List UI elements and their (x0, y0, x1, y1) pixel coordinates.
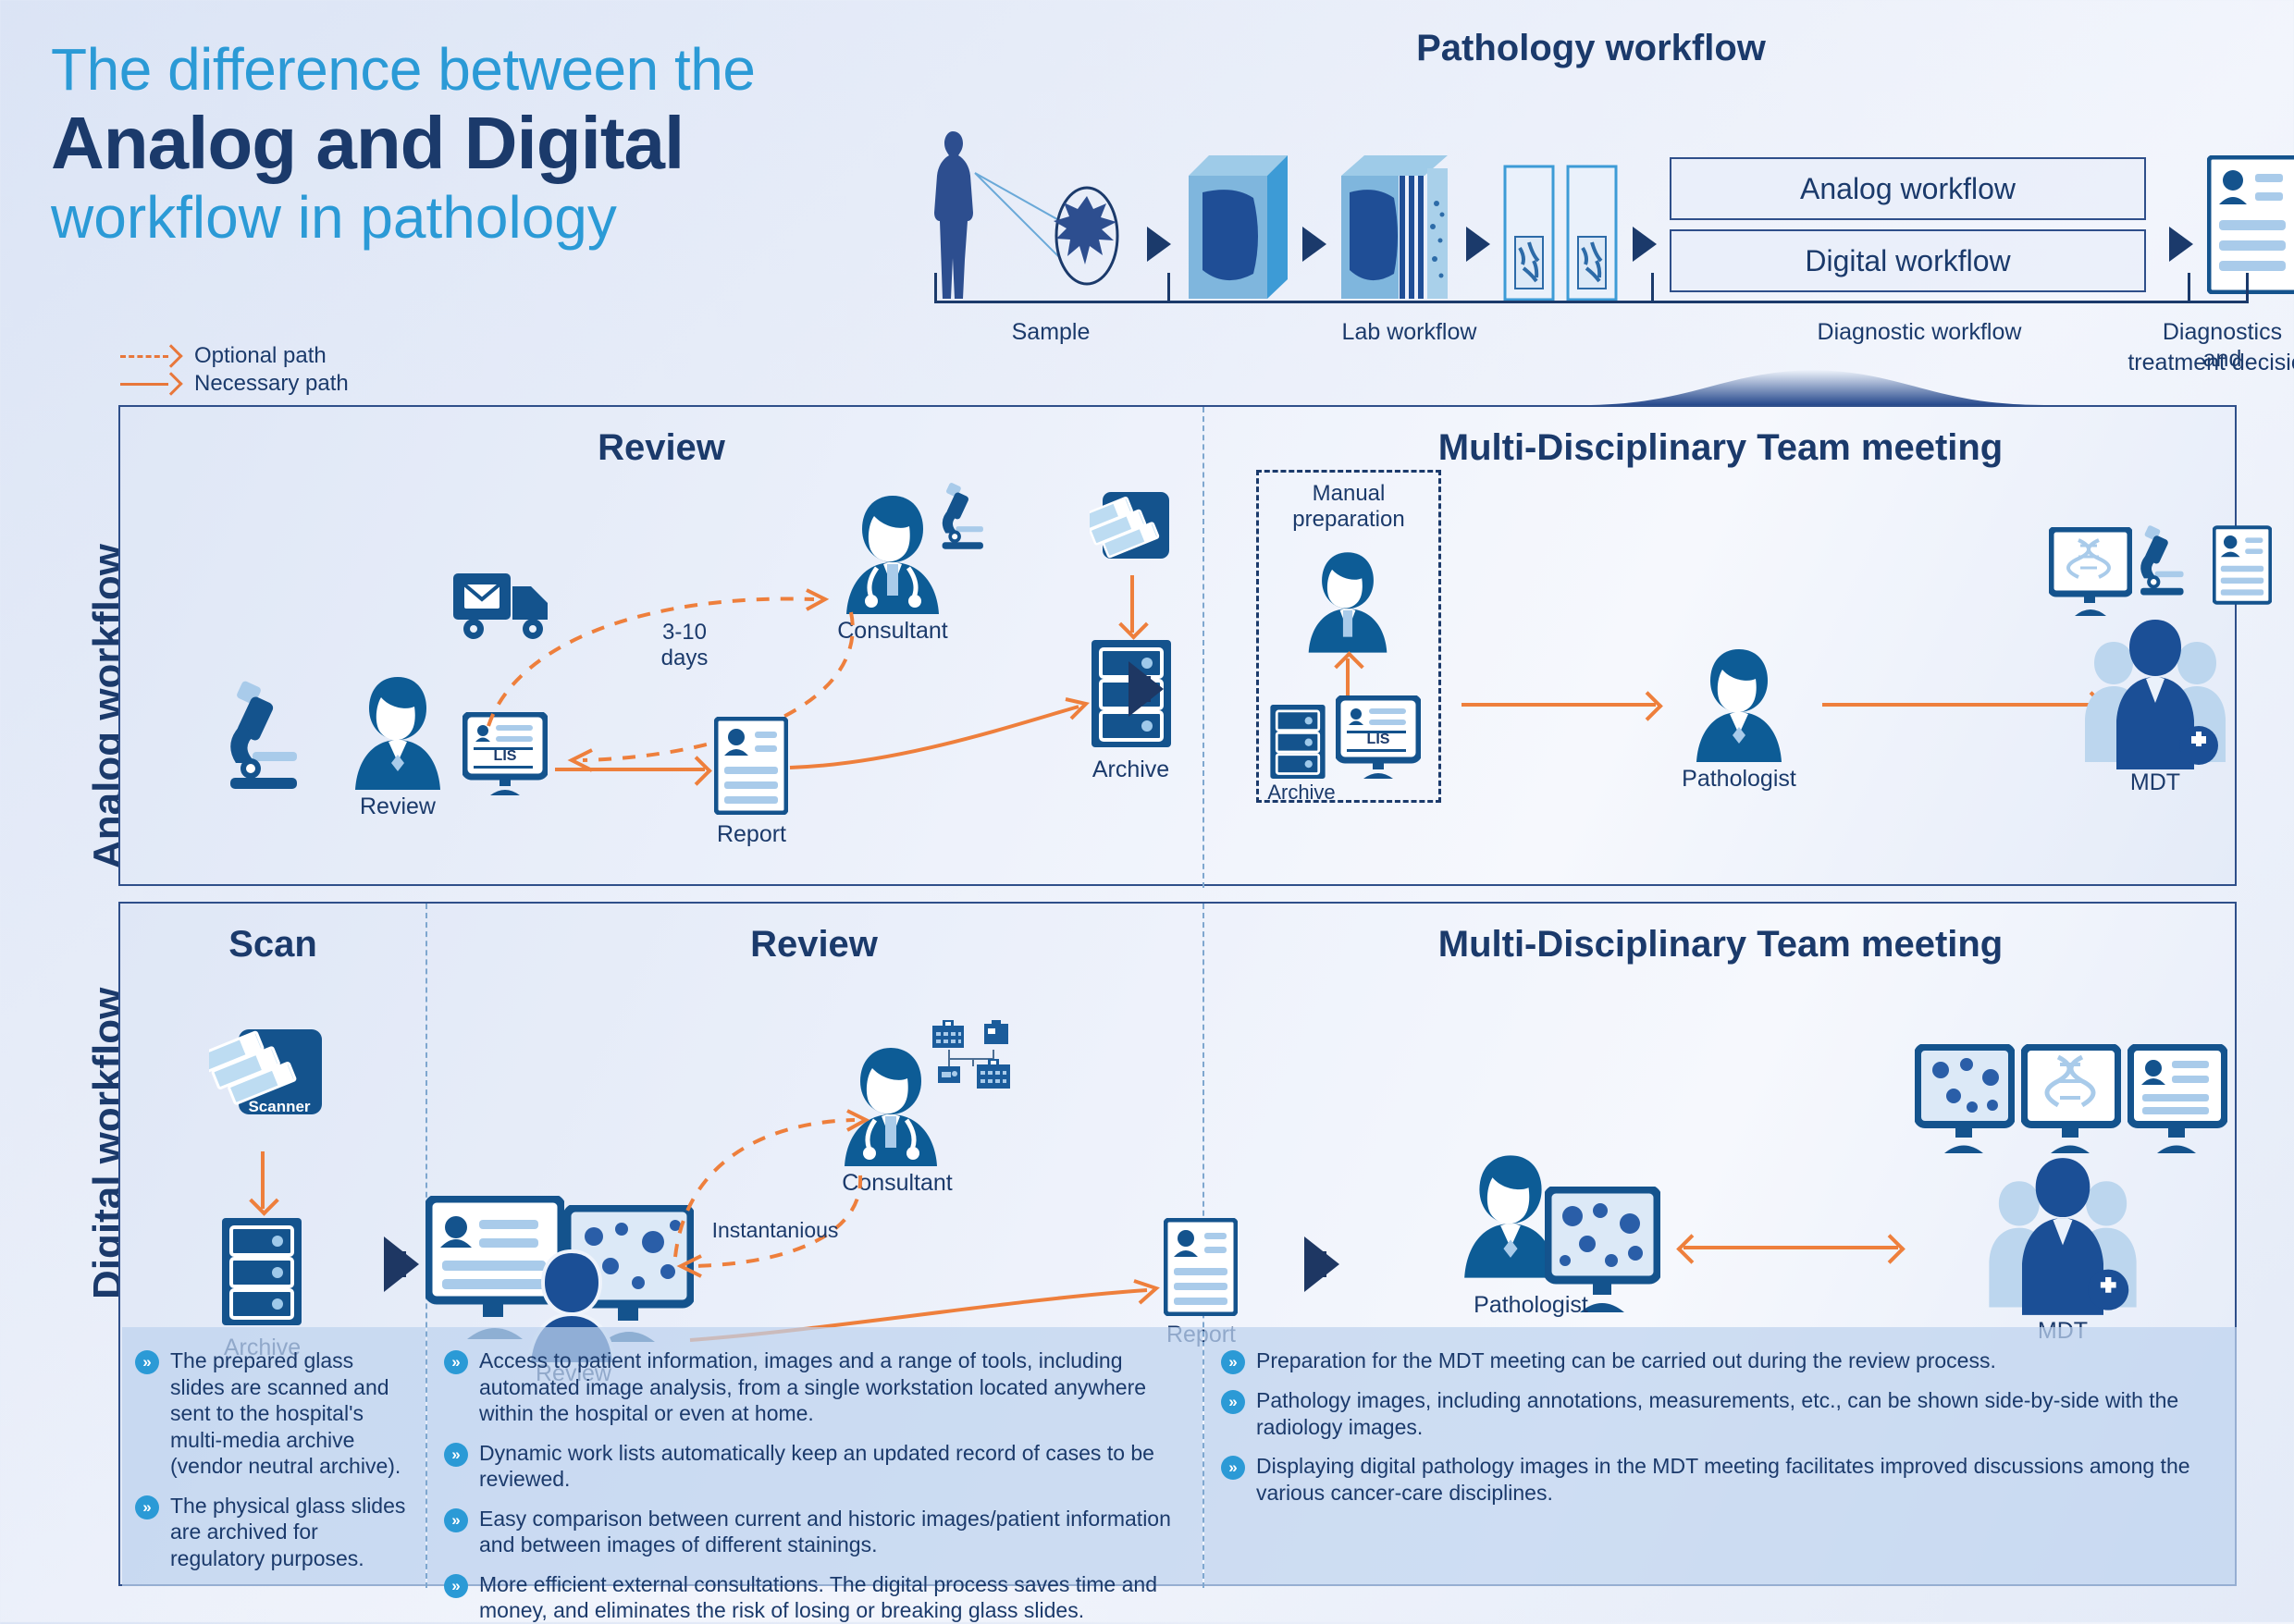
funnel-decoration (1582, 368, 2044, 405)
analog-transit-time: 3-10 (624, 620, 745, 646)
analog-lis-to-report-arrow (555, 768, 705, 771)
analog-mdt-label: MDT (2100, 769, 2211, 796)
analog-review-person-icon (342, 673, 453, 798)
analog-mdt-heading: Multi-Disciplinary Team meeting (1202, 427, 2238, 469)
review-benefits-list: »Access to patient information, images a… (427, 1327, 1202, 1586)
consultant-microscope-icon (934, 479, 1008, 553)
digital-instantanious-label: Instantanious (673, 1218, 877, 1242)
title-line-3: workflow in pathology (51, 185, 883, 252)
manual-prep-lis-monitor-icon: LIS (1336, 695, 1421, 785)
analog-report-to-archive-arrow (786, 675, 1101, 786)
list-item: »More efficient external consultations. … (444, 1571, 1182, 1624)
digital-workflow-panel: Scan Review Multi-Disciplinary Team meet… (118, 902, 2237, 1586)
analog-review-heading: Review (120, 427, 1202, 469)
legend-necessary-label: Necessary path (194, 371, 349, 397)
dashed-arrow-icon (120, 350, 185, 363)
analog-review-label: Review (328, 794, 467, 820)
analog-pathologist-label: Pathologist (1656, 766, 1822, 793)
timeline-tick (2246, 273, 2249, 303)
manual-preparation-line1: Manual (1256, 481, 1441, 507)
flow-arrow-icon (1302, 227, 1326, 262)
list-item-text: Preparation for the MDT meeting can be c… (1256, 1347, 1996, 1374)
analog-mdt-record-icon (2213, 523, 2272, 611)
glass-slide-icon (1503, 165, 1623, 306)
chevron-bullet-icon: » (1221, 1456, 1245, 1480)
list-item-text: Access to patient information, images an… (479, 1347, 1182, 1427)
cell-icon (1045, 183, 1128, 289)
list-item-text: Dynamic work lists automatically keep an… (479, 1440, 1182, 1493)
analog-workflow-panel: Review Multi-Disciplinary Team meeting R… (118, 405, 2237, 886)
analog-report-label: Report (703, 821, 800, 848)
digital-report-icon (1164, 1218, 1238, 1321)
title-line-2: Analog and Digital (51, 102, 883, 185)
analog-mdt-monitor-dna-icon (2049, 527, 2132, 624)
chevron-bullet-icon: » (1221, 1390, 1245, 1414)
timeline-baseline (934, 301, 2248, 303)
list-item: »The physical glass slides are archived … (135, 1493, 409, 1572)
digital-pathologist-mdt-bidirectional-arrow (1683, 1246, 1898, 1249)
list-item-text: Pathology images, including annotations,… (1256, 1387, 2216, 1440)
stage-caption-sample: Sample (934, 319, 1167, 346)
manual-prep-archive-icon (1269, 703, 1326, 785)
analog-workflow-box[interactable]: Analog workflow (1670, 157, 2146, 220)
analog-transit-unit: days (624, 646, 745, 671)
digital-archive-icon (220, 1216, 303, 1332)
digital-mdt-monitor-dna-icon (2021, 1044, 2121, 1162)
manual-preparation-line2: preparation (1256, 507, 1441, 533)
legend-optional-label: Optional path (194, 343, 327, 369)
list-item-text: More efficient external consultations. T… (479, 1571, 1182, 1624)
title-line-1: The difference between the (51, 37, 883, 102)
digital-scanner-icon: Scanner (209, 1022, 329, 1147)
list-item: »Preparation for the MDT meeting can be … (1221, 1347, 2216, 1374)
digital-pathologist-label: Pathologist (1443, 1292, 1619, 1319)
analog-mdt-group-icon (2058, 616, 2252, 778)
digital-review-heading: Review (425, 924, 1202, 966)
list-item: »Displaying digital pathology images in … (1221, 1453, 2216, 1506)
analog-lis-label: LIS (462, 748, 548, 765)
analog-pathologist-icon (1683, 646, 1794, 770)
chevron-bullet-icon: » (444, 1574, 468, 1598)
digital-mdt-monitor-record-icon (2127, 1044, 2227, 1162)
microscope-icon (217, 680, 338, 791)
stage-caption-diagnostic: Diagnostic workflow (1651, 319, 2188, 346)
list-item-text: Displaying digital pathology images in t… (1256, 1453, 2216, 1506)
list-item-text: The prepared glass slides are scanned an… (170, 1347, 409, 1480)
digital-mdt-heading: Multi-Disciplinary Team meeting (1202, 924, 2238, 966)
digital-workflow-box[interactable]: Digital workflow (1670, 229, 2146, 292)
chevron-bullet-icon: » (444, 1350, 468, 1374)
list-item-text: Easy comparison between current and hist… (479, 1506, 1182, 1558)
digital-mdt-monitor-slide-icon (1915, 1044, 2015, 1162)
legend: Optional path Necessary path (120, 342, 349, 398)
tissue-block-icon (1184, 148, 1290, 301)
analog-panel-divider (1202, 407, 1204, 888)
flow-arrow-icon (1466, 227, 1490, 262)
analog-slides-to-archive-arrow (1130, 575, 1134, 633)
list-item: »Easy comparison between current and his… (444, 1506, 1182, 1558)
digital-review-to-mdt-arrow (1304, 1236, 1339, 1292)
digital-scanner-label: Scanner (237, 1098, 322, 1116)
digital-mdt-group-icon (1961, 1153, 2164, 1324)
stage-caption-lab: Lab workflow (1167, 319, 1651, 346)
manual-prep-person-icon (1297, 547, 1399, 661)
analog-stage-transition-arrow (1128, 661, 1164, 717)
stage-caption-diagnostics-decision-line2: treatment decision (2118, 350, 2294, 376)
timeline-tick (1651, 273, 1654, 303)
chevron-bullet-icon: » (444, 1443, 468, 1467)
list-item: »The prepared glass slides are scanned a… (135, 1347, 409, 1480)
mdt-benefits-list: »Preparation for the MDT meeting can be … (1204, 1327, 2237, 1586)
pathology-workflow-diagram: Pathology workflow (916, 28, 2266, 370)
pathology-workflow-title: Pathology workflow (916, 28, 2266, 69)
analog-prep-to-pathologist-arrow (1461, 703, 1656, 707)
list-item: »Pathology images, including annotations… (1221, 1387, 2216, 1440)
solid-arrow-icon (120, 377, 185, 390)
digital-scanner-to-archive-arrow (261, 1151, 265, 1209)
page-title: The difference between the Analog and Di… (51, 37, 883, 252)
analog-mdt-microscope-icon (2132, 522, 2210, 599)
timeline-tick (934, 273, 937, 303)
chevron-bullet-icon: » (1221, 1350, 1245, 1374)
list-item: »Dynamic work lists automatically keep a… (444, 1440, 1182, 1493)
manual-prep-lis-label: LIS (1336, 732, 1421, 748)
flow-arrow-icon (2169, 227, 2193, 262)
timeline-tick (1167, 273, 1170, 303)
legend-necessary-path: Necessary path (120, 370, 349, 398)
legend-optional-path: Optional path (120, 342, 349, 370)
tissue-sections-icon (1337, 148, 1452, 301)
digital-scan-to-review-arrow (384, 1236, 419, 1292)
digital-scan-heading: Scan (120, 924, 425, 966)
flow-arrow-icon (1633, 227, 1657, 262)
analog-report-icon (714, 717, 788, 819)
chevron-bullet-icon: » (135, 1495, 159, 1519)
chevron-bullet-icon: » (444, 1508, 468, 1532)
manual-prep-archive-label: Archive (1260, 781, 1343, 805)
list-item: »Access to patient information, images a… (444, 1347, 1182, 1427)
timeline-tick (2188, 273, 2190, 303)
chevron-bullet-icon: » (135, 1350, 159, 1374)
scan-benefits-list: »The prepared glass slides are scanned a… (122, 1327, 425, 1586)
patient-record-icon (2207, 155, 2294, 299)
hospital-network-icon (931, 1020, 1023, 1103)
list-item-text: The physical glass slides are archived f… (170, 1493, 409, 1572)
analog-slides-stack-icon (1090, 488, 1173, 576)
flow-arrow-icon (1147, 227, 1171, 262)
patient-silhouette-icon (925, 129, 980, 301)
